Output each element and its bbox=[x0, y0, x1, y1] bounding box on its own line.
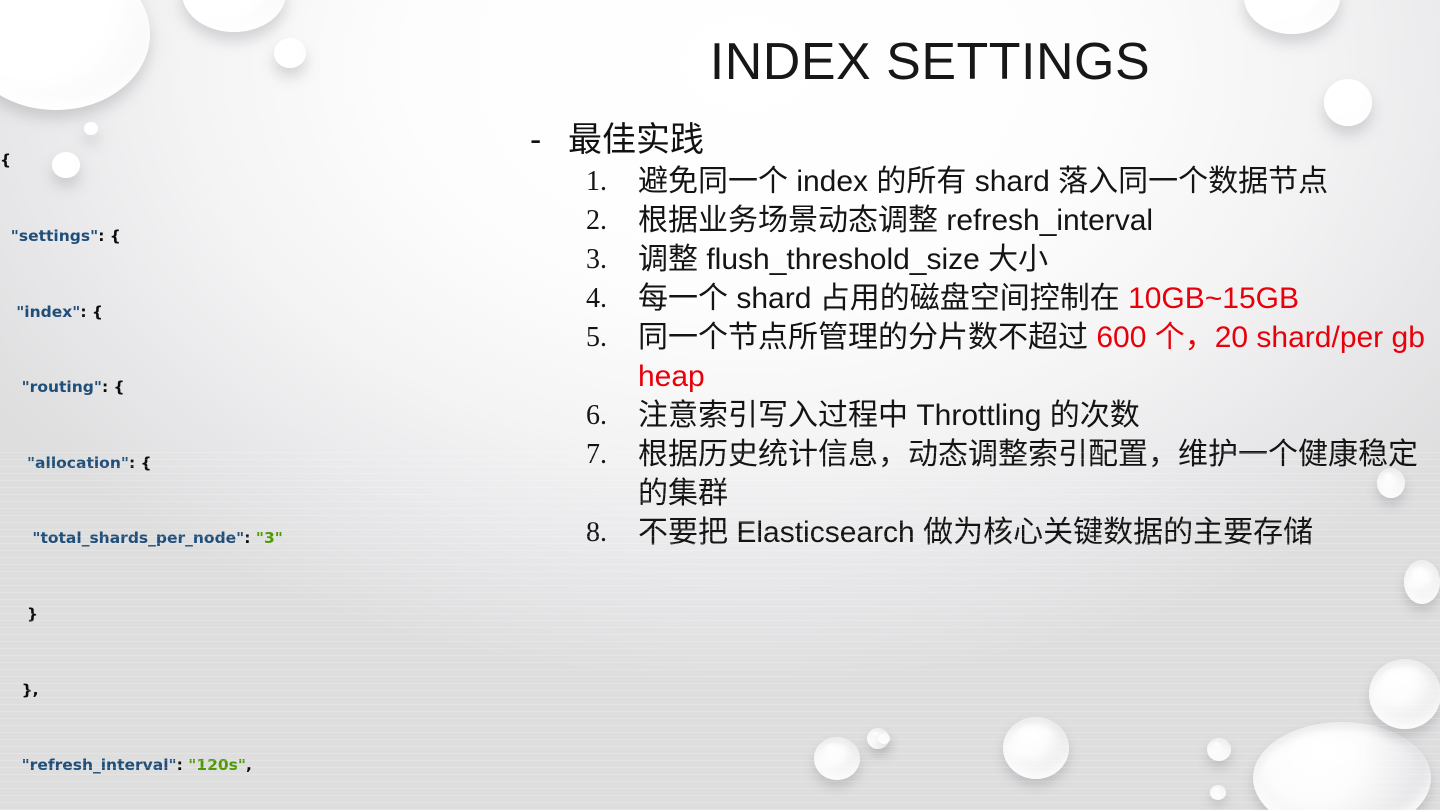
list-item-number: 1. bbox=[580, 162, 638, 201]
list-item: 4. 每一个 shard 占用的磁盘空间控制在 10GB~15GB bbox=[580, 279, 1440, 318]
water-drop-icon bbox=[182, 0, 286, 32]
water-drop-icon bbox=[1369, 659, 1440, 729]
list-item-text: 根据业务场景动态调整 refresh_interval bbox=[638, 201, 1440, 240]
list-item-number: 3. bbox=[580, 240, 638, 279]
list-item-text: 不要把 Elasticsearch 做为核心关键数据的主要存储 bbox=[638, 513, 1440, 552]
subtitle-label: 最佳实践 bbox=[568, 121, 704, 159]
code-line: "settings": { bbox=[0, 224, 470, 249]
list-item-number: 7. bbox=[580, 435, 638, 474]
water-drop-icon bbox=[1244, 0, 1340, 34]
list-item: 3. 调整 flush_threshold_size 大小 bbox=[580, 240, 1440, 279]
code-line: "routing": { bbox=[0, 375, 470, 400]
code-line: } bbox=[0, 602, 470, 627]
code-line: "total_shards_per_node": "3" bbox=[0, 526, 470, 551]
list-item: 7. 根据历史统计信息，动态调整索引配置，维护一个健康稳定的集群 bbox=[580, 435, 1440, 513]
water-drop-icon bbox=[878, 733, 890, 744]
list-item: 8. 不要把 Elasticsearch 做为核心关键数据的主要存储 bbox=[580, 513, 1440, 552]
list-item-text: 避免同一个 index 的所有 shard 落入同一个数据节点 bbox=[638, 162, 1440, 201]
list-item-text-group: 同一个节点所管理的分片数不超过 600 个，20 shard/per gb he… bbox=[638, 318, 1440, 396]
list-item-number: 6. bbox=[580, 396, 638, 435]
list-item: 5. 同一个节点所管理的分片数不超过 600 个，20 shard/per gb… bbox=[580, 318, 1440, 396]
slide-canvas: INDEX SETTINGS { "settings": { "index": … bbox=[0, 0, 1440, 810]
subtitle: -最佳实践 bbox=[530, 112, 704, 161]
water-drop-icon bbox=[274, 38, 306, 68]
list-item-number: 4. bbox=[580, 279, 638, 318]
water-drop-icon bbox=[814, 737, 860, 780]
list-item: 1. 避免同一个 index 的所有 shard 落入同一个数据节点 bbox=[580, 162, 1440, 201]
best-practices-list: 1. 避免同一个 index 的所有 shard 落入同一个数据节点 2. 根据… bbox=[580, 162, 1440, 552]
subtitle-dash: - bbox=[530, 121, 568, 160]
list-item-text: 同一个节点所管理的分片数不超过 bbox=[638, 321, 1096, 354]
water-drop-icon bbox=[1253, 722, 1431, 810]
water-drop-icon bbox=[1210, 785, 1226, 800]
code-line: { bbox=[0, 148, 470, 173]
index-settings-json-block: { "settings": { "index": { "routing": { … bbox=[0, 98, 470, 810]
list-item: 2. 根据业务场景动态调整 refresh_interval bbox=[580, 201, 1440, 240]
code-line: "index": { bbox=[0, 300, 470, 325]
code-line: "refresh_interval": "120s", bbox=[0, 753, 470, 778]
list-item-text-group: 每一个 shard 占用的磁盘空间控制在 10GB~15GB bbox=[638, 279, 1440, 318]
list-item-text: 注意索引写入过程中 Throttling 的次数 bbox=[638, 396, 1440, 435]
list-item-number: 5. bbox=[580, 318, 638, 357]
list-item-number: 2. bbox=[580, 201, 638, 240]
water-drop-icon bbox=[1207, 738, 1231, 761]
water-drop-icon bbox=[1003, 717, 1069, 779]
list-item-text: 调整 flush_threshold_size 大小 bbox=[638, 240, 1440, 279]
code-line: }, bbox=[0, 678, 470, 703]
water-drop-icon bbox=[867, 728, 889, 749]
list-item-highlight: 10GB~15GB bbox=[1128, 282, 1299, 315]
water-drop-icon bbox=[0, 0, 150, 110]
list-item-text: 根据历史统计信息，动态调整索引配置，维护一个健康稳定的集群 bbox=[638, 435, 1440, 513]
list-item: 6. 注意索引写入过程中 Throttling 的次数 bbox=[580, 396, 1440, 435]
water-drop-icon bbox=[1404, 560, 1440, 604]
code-line: "allocation": { bbox=[0, 451, 470, 476]
list-item-number: 8. bbox=[580, 513, 638, 552]
list-item-text: 每一个 shard 占用的磁盘空间控制在 bbox=[638, 282, 1128, 315]
page-title: INDEX SETTINGS bbox=[470, 34, 1390, 90]
